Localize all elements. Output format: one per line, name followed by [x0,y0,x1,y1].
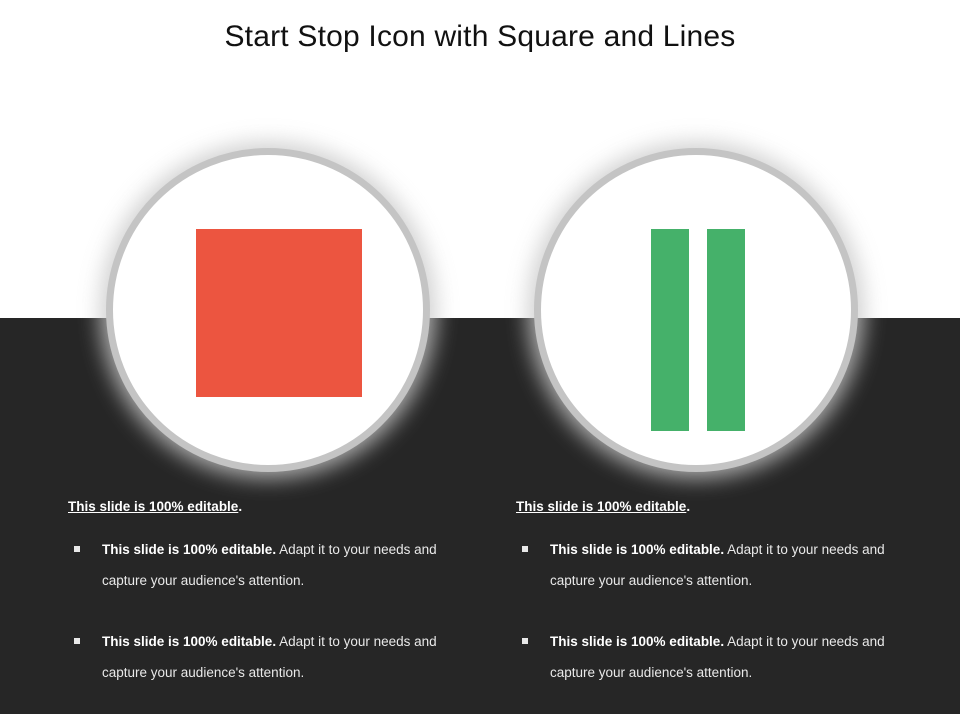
list-item-lead: This slide is 100% editable. [102,542,276,557]
list-item: This slide is 100% editable. Adapt it to… [68,626,448,688]
bullet-square-icon [74,546,80,552]
list-item: This slide is 100% editable. Adapt it to… [516,534,896,596]
circle-ring-right [534,148,858,472]
bullet-square-icon [74,638,80,644]
pause-icon-badge [528,142,864,478]
list-item: This slide is 100% editable. Adapt it to… [516,626,896,688]
pause-bar-right [707,229,745,431]
column-heading-left-suffix: . [238,499,242,514]
list-item-lead: This slide is 100% editable. [102,634,276,649]
text-column-left: This slide is 100% editable. This slide … [68,498,448,688]
column-heading-right-suffix: . [686,499,690,514]
circle-ring-left [106,148,430,472]
bullet-square-icon [522,638,528,644]
list-item: This slide is 100% editable. Adapt it to… [68,534,448,596]
slide-title: Start Stop Icon with Square and Lines [0,18,960,56]
column-heading-left: This slide is 100% editable. [68,498,448,516]
bullet-square-icon [522,546,528,552]
stop-icon [196,229,362,397]
stop-icon-badge [100,142,436,478]
list-item-lead: This slide is 100% editable. [550,634,724,649]
list-item-lead: This slide is 100% editable. [550,542,724,557]
column-heading-left-underlined: This slide is 100% editable [68,499,238,514]
column-heading-right-underlined: This slide is 100% editable [516,499,686,514]
text-column-right: This slide is 100% editable. This slide … [516,498,896,688]
column-heading-right: This slide is 100% editable. [516,498,896,516]
pause-bar-left [651,229,689,431]
pause-icon [651,229,745,431]
background-footer-strip [0,714,960,720]
slide-canvas: Start Stop Icon with Square and Lines Th… [0,0,960,720]
